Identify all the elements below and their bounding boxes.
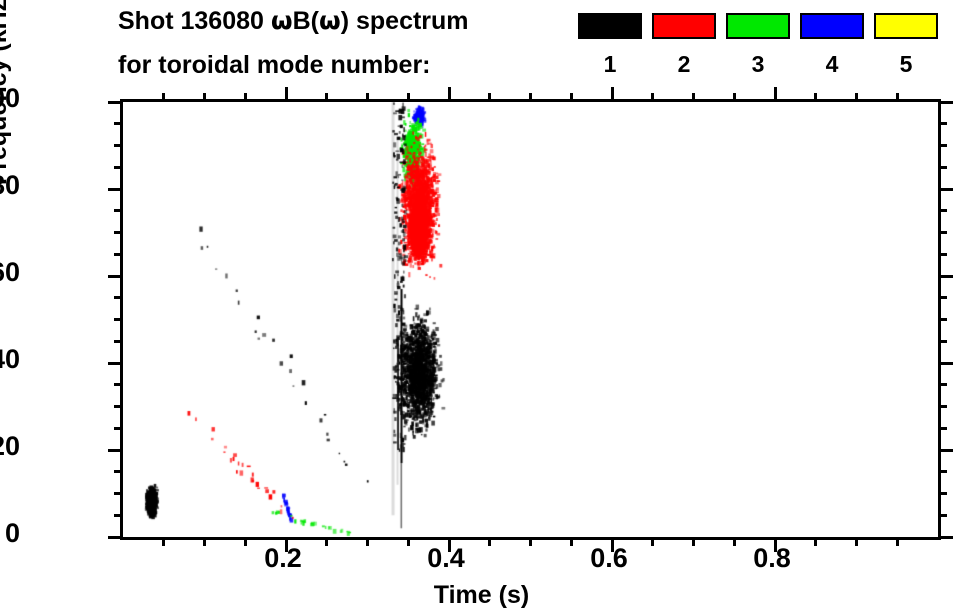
xtick-minor-top-0.90 [855, 93, 858, 102]
ytick-label-0: 0 [5, 520, 20, 547]
legend-item-1[interactable]: 1 [578, 13, 642, 76]
ytick-major-0 [108, 536, 123, 539]
ytick-minor-90 [114, 144, 123, 147]
xtick-minor-top-0.75 [733, 93, 736, 102]
xtick-major-top-0.2 [285, 87, 288, 102]
xtick-major-0.2 [285, 537, 288, 552]
legend-label-mode-3: 3 [726, 53, 790, 76]
legend-item-2[interactable]: 2 [652, 13, 716, 76]
ytick-minor-45 [114, 340, 123, 343]
ytick-minor-30 [114, 405, 123, 408]
ytick-minor-right-15 [938, 470, 947, 473]
xtick-minor-0.85 [814, 537, 817, 546]
ytick-minor-right-50 [938, 318, 947, 321]
omega-symbol-1: ω [271, 6, 293, 35]
xtick-major-top-0.6 [611, 87, 614, 102]
legend-swatch-mode-5 [874, 13, 938, 39]
ytick-minor-95 [114, 122, 123, 125]
plot-area[interactable] [120, 99, 941, 540]
ytick-label-20: 20 [0, 433, 20, 460]
ytick-minor-right-5 [938, 514, 947, 517]
xtick-minor-0.75 [733, 537, 736, 546]
xtick-major-0.4 [448, 537, 451, 552]
ytick-major-80 [108, 188, 123, 191]
ytick-minor-10 [114, 492, 123, 495]
ytick-major-40 [108, 362, 123, 365]
spectrum-figure: Shot 136080 ωB(ω) spectrum for toroidal … [0, 0, 963, 615]
title-shot-text: Shot 136080 [118, 7, 271, 35]
legend-swatch-mode-4 [800, 13, 864, 39]
xtick-major-top-0.4 [448, 87, 451, 102]
legend-label-mode-2: 2 [652, 53, 716, 76]
ytick-major-100 [108, 101, 123, 104]
page-title: Shot 136080 ωB(ω) spectrum [118, 8, 469, 34]
xtick-minor-0.05 [162, 537, 165, 546]
xtick-major-0.8 [774, 537, 777, 552]
xtick-minor-0.15 [244, 537, 247, 546]
legend-item-4[interactable]: 4 [800, 13, 864, 76]
xtick-minor-top-0.50 [529, 93, 532, 102]
ytick-minor-right-90 [938, 144, 947, 147]
legend-label-mode-4: 4 [800, 53, 864, 76]
legend-swatch-mode-2 [652, 13, 716, 39]
legend-swatch-mode-3 [726, 13, 790, 39]
omega-symbol-2: ω [319, 6, 341, 35]
xtick-minor-0.90 [855, 537, 858, 546]
ytick-major-right-100 [938, 101, 953, 104]
xtick-label-0.6: 0.6 [569, 545, 649, 572]
xtick-minor-0.70 [692, 537, 695, 546]
ytick-major-right-20 [938, 449, 953, 452]
xtick-minor-top-0.85 [814, 93, 817, 102]
xtick-minor-top-0.30 [366, 93, 369, 102]
ytick-minor-right-30 [938, 405, 947, 408]
xtick-major-top-0.8 [774, 87, 777, 102]
xtick-label-0.4: 0.4 [406, 545, 486, 572]
xtick-minor-0.35 [407, 537, 410, 546]
xtick-minor-0.95 [896, 537, 899, 546]
x-axis-title: Time (s) [0, 583, 963, 608]
ytick-major-60 [108, 275, 123, 278]
xtick-minor-top-0.55 [570, 93, 573, 102]
ytick-major-right-0 [938, 536, 953, 539]
xtick-label-0.2: 0.2 [243, 545, 323, 572]
legend: 1 2 3 4 5 [578, 13, 948, 93]
xtick-minor-0.45 [488, 537, 491, 546]
ytick-minor-right-95 [938, 122, 947, 125]
ytick-minor-right-45 [938, 340, 947, 343]
ytick-minor-5 [114, 514, 123, 517]
legend-item-5[interactable]: 5 [874, 13, 938, 76]
xtick-minor-0.65 [651, 537, 654, 546]
xtick-minor-0.55 [570, 537, 573, 546]
xtick-minor-top-0.65 [651, 93, 654, 102]
ytick-minor-70 [114, 231, 123, 234]
ytick-label-40: 40 [0, 346, 20, 373]
legend-label-mode-1: 1 [578, 53, 642, 76]
title-b-text: B( [293, 7, 319, 35]
xtick-minor-0.30 [366, 537, 369, 546]
xtick-minor-top-0.25 [325, 93, 328, 102]
page-subtitle: for toroidal mode number: [118, 53, 431, 78]
xtick-minor-top-0.05 [162, 93, 165, 102]
xtick-minor-top-0.70 [692, 93, 695, 102]
legend-item-3[interactable]: 3 [726, 13, 790, 76]
y-axis-title: Frequency (kHz) [0, 0, 11, 185]
ytick-minor-right-70 [938, 231, 947, 234]
ytick-label-60: 60 [0, 259, 20, 286]
ytick-minor-50 [114, 318, 123, 321]
xtick-minor-top-0.35 [407, 93, 410, 102]
xtick-minor-top-0.10 [203, 93, 206, 102]
ytick-minor-25 [114, 427, 123, 430]
ytick-major-right-80 [938, 188, 953, 191]
xtick-minor-top-0.15 [244, 93, 247, 102]
xtick-minor-0.50 [529, 537, 532, 546]
title-spectrum-text: ) spectrum [341, 7, 469, 35]
ytick-minor-right-75 [938, 209, 947, 212]
ytick-minor-right-65 [938, 253, 947, 256]
xtick-label-0.8: 0.8 [732, 545, 812, 572]
ytick-major-right-60 [938, 275, 953, 278]
xtick-minor-0.25 [325, 537, 328, 546]
xtick-minor-top-0.45 [488, 93, 491, 102]
ytick-minor-75 [114, 209, 123, 212]
ytick-minor-right-55 [938, 296, 947, 299]
ytick-minor-35 [114, 383, 123, 386]
ytick-minor-65 [114, 253, 123, 256]
ytick-minor-right-35 [938, 383, 947, 386]
ytick-minor-right-25 [938, 427, 947, 430]
xtick-major-0.6 [611, 537, 614, 552]
ytick-minor-85 [114, 166, 123, 169]
xtick-minor-0.10 [203, 537, 206, 546]
ytick-major-right-40 [938, 362, 953, 365]
ytick-minor-15 [114, 470, 123, 473]
legend-swatch-mode-1 [578, 13, 642, 39]
legend-label-mode-5: 5 [874, 53, 938, 76]
spectrum-scatter-canvas [123, 102, 938, 537]
xtick-minor-top-0.95 [896, 93, 899, 102]
ytick-minor-right-85 [938, 166, 947, 169]
ytick-minor-right-10 [938, 492, 947, 495]
ytick-minor-55 [114, 296, 123, 299]
ytick-major-20 [108, 449, 123, 452]
